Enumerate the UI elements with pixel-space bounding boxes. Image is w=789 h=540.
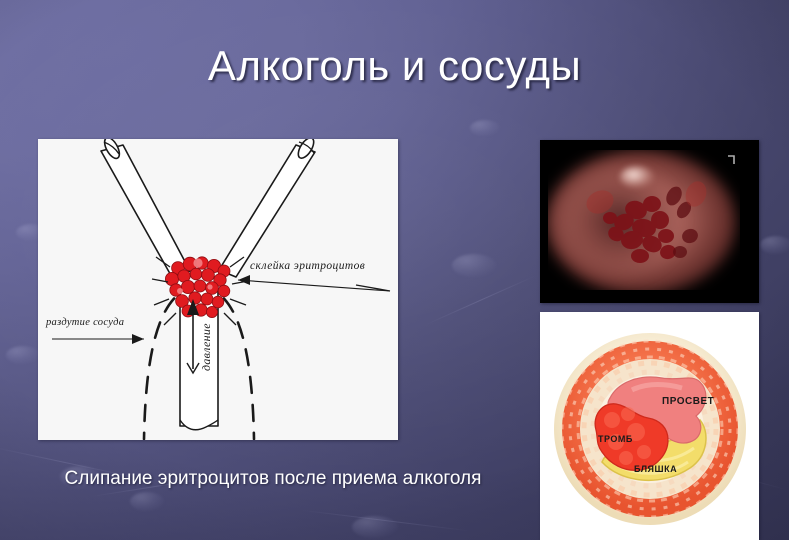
artery-cross-section-illustration: ПРОСВЕТ ТРОМБ БЛЯШКА <box>540 312 759 540</box>
svg-text:раздутие сосуда: раздутие сосуда <box>45 317 124 328</box>
erythrocyte-clump <box>165 257 230 318</box>
label-clumping: склейка эритроцитов <box>238 259 390 291</box>
vessel-tube-left <box>101 145 190 279</box>
svg-text:давление: давление <box>199 323 213 371</box>
blood-vessel-clumping-diagram: склейка эритроцитов раздутие сосуда давл… <box>38 139 398 440</box>
page-title: Алкоголь и сосуды <box>0 42 789 90</box>
blood-clump-micrograph <box>540 140 759 303</box>
artery-label-plaque: БЛЯШКА <box>634 464 677 474</box>
artery-label-thrombus: ТРОМБ <box>598 434 633 444</box>
micrograph-cells <box>540 140 759 303</box>
artery-label-lumen: ПРОСВЕТ <box>662 396 714 407</box>
diagram-svg: склейка эритроцитов раздутие сосуда давл… <box>38 139 398 440</box>
vessel-tube-right <box>219 145 315 277</box>
presentation-slide: Алкоголь и сосуды <box>0 0 789 540</box>
label-swelling: раздутие сосуда <box>45 317 144 344</box>
svg-text:склейка эритроцитов: склейка эритроцитов <box>250 259 365 272</box>
artery-svg: ПРОСВЕТ ТРОМБ БЛЯШКА <box>540 312 759 540</box>
diagram-caption: Слипание эритроцитов после приема алкого… <box>38 468 508 490</box>
